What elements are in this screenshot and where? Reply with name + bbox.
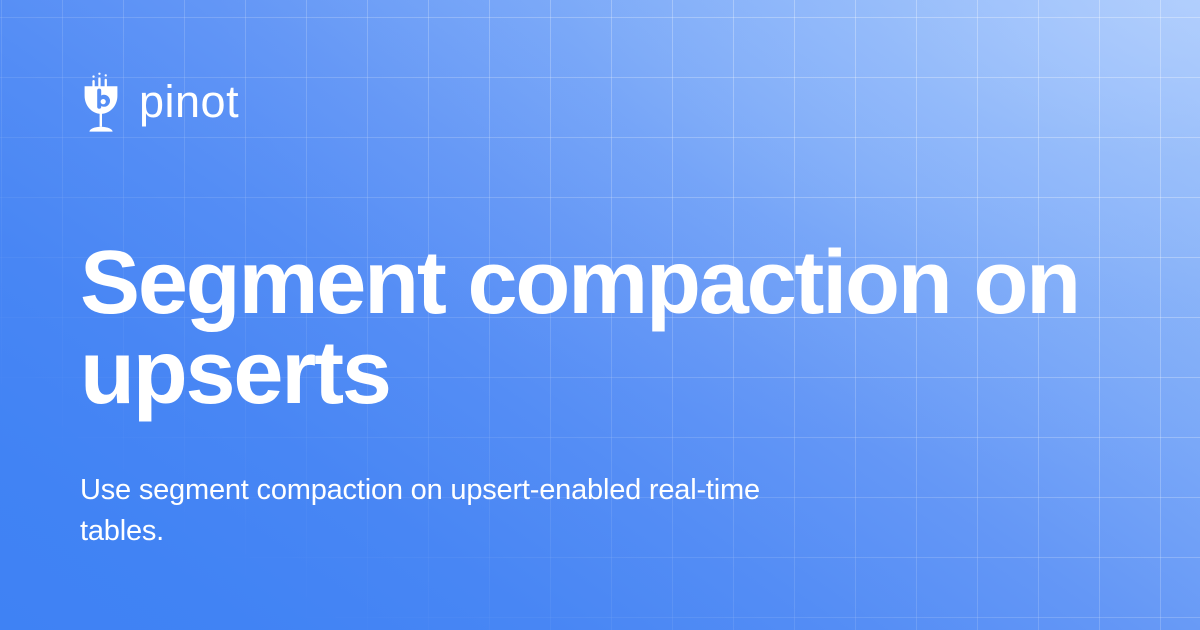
- pinot-wine-glass-icon: [80, 72, 122, 134]
- social-preview-card: pinot Segment compaction on upserts Use …: [0, 0, 1200, 630]
- brand-logo: pinot: [80, 70, 239, 136]
- page-subtitle: Use segment compaction on upsert-enabled…: [80, 470, 840, 552]
- brand-wordmark: pinot: [139, 79, 239, 127]
- card-content: pinot Segment compaction on upserts Use …: [0, 0, 1200, 630]
- page-title: Segment compaction on upserts: [80, 238, 1120, 418]
